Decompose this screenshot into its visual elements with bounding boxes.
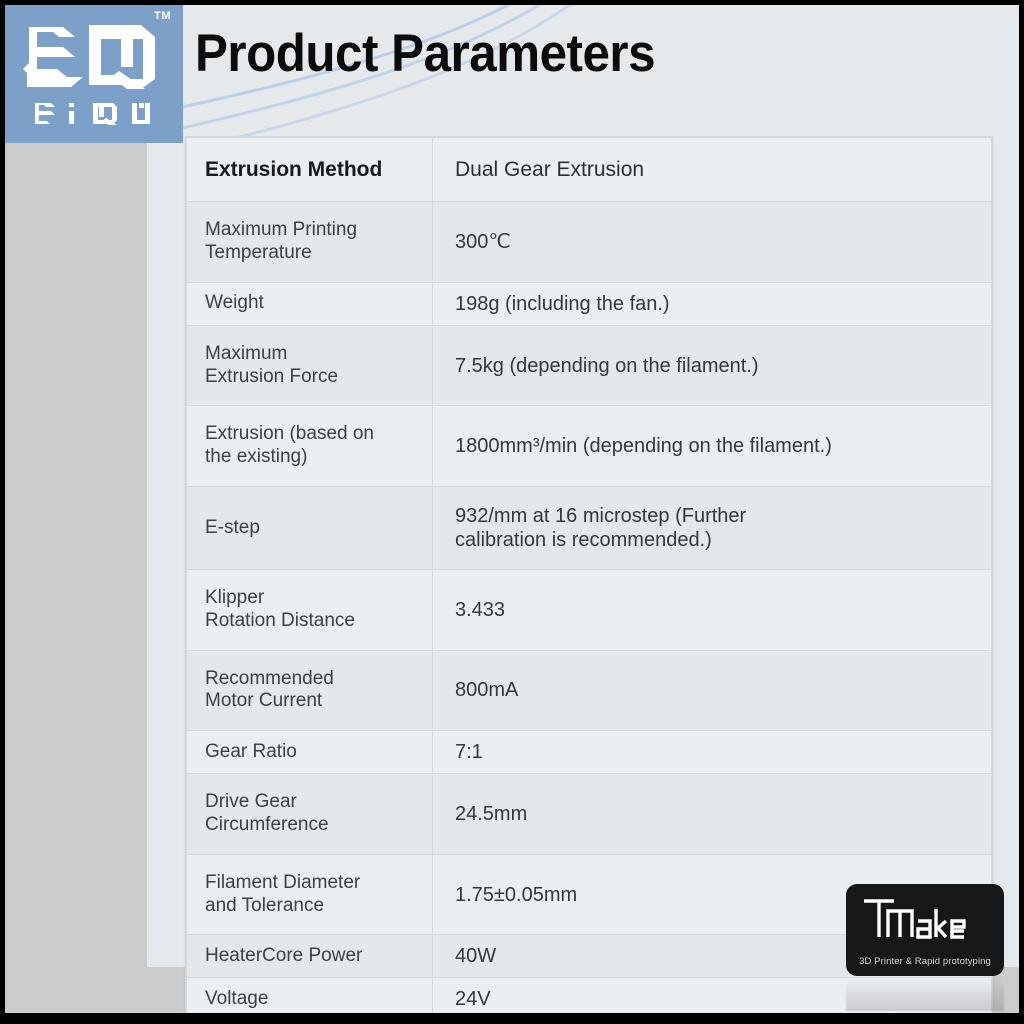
table-row: Drive Gear Circumference24.5mm (187, 774, 992, 855)
row-label: Extrusion (based on the existing) (187, 406, 433, 487)
table-row: Weight198g (including the fan.) (187, 282, 992, 325)
row-value: 198g (including the fan.) (433, 282, 992, 325)
row-value: 1800mm³/min (depending on the filament.) (433, 406, 992, 487)
table-row: Gear Ratio7:1 (187, 731, 992, 774)
watermark-reflection (846, 977, 1004, 1011)
table-header-row: Extrusion MethodDual Gear Extrusion (187, 138, 992, 202)
row-label: Klipper Rotation Distance (187, 569, 433, 650)
table-header-label: Extrusion Method (187, 138, 433, 202)
product-parameters-card: TM (5, 5, 1019, 1013)
watermark-tagline: 3D Printer & Rapid prototyping (846, 956, 1004, 967)
table-row: Maximum Printing Temperature300℃ (187, 202, 992, 283)
tmake-watermark: 3D Printer & Rapid prototyping (846, 884, 1004, 976)
table-row: Recommended Motor Current800mA (187, 650, 992, 731)
row-label: Recommended Motor Current (187, 650, 433, 731)
row-value: 7.5kg (depending on the filament.) (433, 325, 992, 406)
spec-table-container: Extrusion MethodDual Gear ExtrusionMaxim… (185, 136, 993, 1013)
tmake-logo-icon (860, 893, 986, 943)
row-label: Gear Ratio (187, 731, 433, 774)
row-value: 7:1 (433, 731, 992, 774)
table-row: Maximum Extrusion Force7.5kg (depending … (187, 325, 992, 406)
row-value: 300℃ (433, 202, 992, 283)
row-label: E-step (187, 486, 433, 569)
row-value: 800mA (433, 650, 992, 731)
row-label: Maximum Printing Temperature (187, 202, 433, 283)
row-label: HeaterCore Power (187, 935, 433, 978)
table-row: E-step932/mm at 16 microstep (Further ca… (187, 486, 992, 569)
row-label: Filament Diameter and Tolerance (187, 854, 433, 935)
page-title: Product Parameters (195, 23, 655, 84)
image-frame: TM (0, 0, 1024, 1024)
row-label: Drive Gear Circumference (187, 774, 433, 855)
row-value: 932/mm at 16 microstep (Further calibrat… (433, 486, 992, 569)
table-row: Klipper Rotation Distance3.433 (187, 569, 992, 650)
biqu-bq-mark-icon (23, 17, 165, 91)
row-label: Maximum Extrusion Force (187, 325, 433, 406)
left-grey-band (5, 143, 147, 1013)
row-value: 24.5mm (433, 774, 992, 855)
row-label: Weight (187, 282, 433, 325)
biqu-logo-tile: TM (5, 5, 183, 143)
table-row: Extrusion (based on the existing)1800mm³… (187, 406, 992, 487)
biqu-wordmark (5, 98, 183, 128)
table-header-value: Dual Gear Extrusion (433, 138, 992, 202)
product-parameters-table: Extrusion MethodDual Gear ExtrusionMaxim… (186, 137, 992, 1013)
row-label: Voltage (187, 978, 433, 1013)
row-value: 3.433 (433, 569, 992, 650)
